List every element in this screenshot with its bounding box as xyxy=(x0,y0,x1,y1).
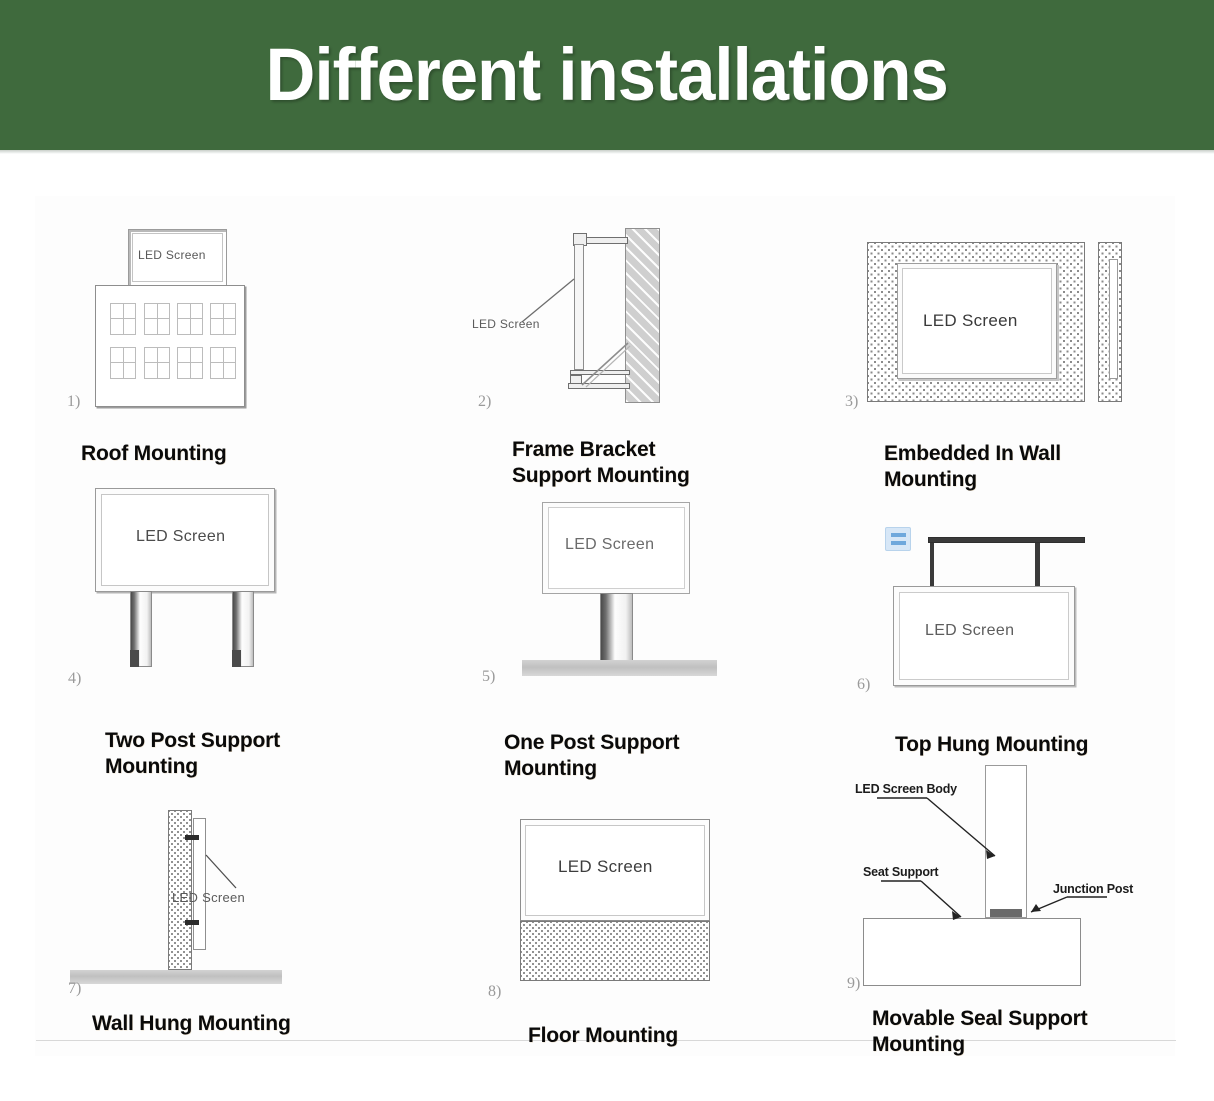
header-divider xyxy=(0,150,1214,154)
caption-top-hung-mounting: Top Hung Mounting xyxy=(895,732,1088,758)
cell-frame-bracket-support-mounting: LED Screen 2) Frame Bracket Support Moun… xyxy=(470,215,830,505)
window xyxy=(210,347,236,379)
caption-frame-bracket-support-mounting: Frame Bracket Support Mounting xyxy=(512,437,690,489)
window xyxy=(210,303,236,335)
embedded-led-screen-label: LED Screen xyxy=(923,311,1018,331)
diagram-index-9: 9) xyxy=(847,975,860,993)
frame-bracket-led-screen-label: LED Screen xyxy=(472,317,540,331)
caption-roof-mounting: Roof Mounting xyxy=(81,441,227,467)
movable-seal-support-diagram: LED Screen Body Seat Support Junction Po… xyxy=(845,760,1175,990)
roof-led-screen-label: LED Screen xyxy=(138,248,206,262)
caption-one-post-support-mounting: One Post Support Mounting xyxy=(504,730,679,782)
caption-two-post-support-mounting: Two Post Support Mounting xyxy=(105,728,280,780)
led-screen-leader-line xyxy=(470,215,700,410)
window xyxy=(177,303,203,335)
top-hung-led-screen-label: LED Screen xyxy=(925,622,1014,640)
wall-hung-diagram: LED Screen xyxy=(60,800,340,1000)
floor-mounting-diagram: LED Screen xyxy=(470,805,750,1005)
window xyxy=(177,347,203,379)
window xyxy=(144,347,170,379)
cell-movable-seal-support-mounting: LED Screen Body Seat Support Junction Po… xyxy=(845,760,1214,1060)
diagram-index-8: 8) xyxy=(488,983,501,1001)
cell-two-post-support-mounting: LED Screen 4) Two Post Support Mounting xyxy=(60,480,420,780)
post-footing-left xyxy=(130,650,139,667)
caption-floor-mounting: Floor Mounting xyxy=(528,1023,678,1049)
post-footing-right xyxy=(232,650,241,667)
diagram-index-2: 2) xyxy=(478,393,491,411)
ceiling-beam xyxy=(928,537,1085,543)
save-icon[interactable] xyxy=(885,527,911,551)
diagram-index-1: 1) xyxy=(67,393,80,411)
cell-roof-mounting: LED Screen xyxy=(60,215,420,495)
one-post-support-diagram: LED Screen xyxy=(470,490,730,685)
diagram-index-4: 4) xyxy=(68,670,81,688)
support-post-center xyxy=(600,593,633,663)
diagram-index-3: 3) xyxy=(845,393,858,411)
top-hung-diagram: LED Screen xyxy=(845,510,1115,700)
diagram-index-7: 7) xyxy=(68,980,81,998)
two-post-led-screen-label: LED Screen xyxy=(136,528,225,546)
caption-movable-seal-support-mounting: Movable Seal Support Mounting xyxy=(872,1006,1087,1058)
window xyxy=(110,347,136,379)
cell-one-post-support-mounting: LED Screen 5) One Post Support Mounting xyxy=(470,490,830,790)
cell-embedded-in-wall-mounting: LED Screen 3) Embedded In Wall Mounting xyxy=(845,215,1195,505)
frame-bracket-diagram: LED Screen xyxy=(470,215,700,410)
floor-led-screen-label: LED Screen xyxy=(558,857,653,877)
cell-wall-hung-mounting: LED Screen 7) Wall Hung Mounting xyxy=(60,800,420,1050)
ground-slab xyxy=(522,660,717,676)
window xyxy=(144,303,170,335)
header-banner: Different installations xyxy=(0,0,1214,150)
roof-mounting-diagram: LED Screen xyxy=(60,215,290,410)
annotation-leader-lines xyxy=(845,760,1175,990)
caption-embedded-in-wall-mounting: Embedded In Wall Mounting xyxy=(884,441,1061,493)
screen-side-section xyxy=(1109,259,1118,379)
cell-top-hung-mounting: LED Screen 6) Top Hung Mounting xyxy=(845,510,1195,800)
hanger-left xyxy=(930,543,934,587)
cell-floor-mounting: LED Screen 8) Floor Mounting xyxy=(470,805,830,1055)
two-post-support-diagram: LED Screen xyxy=(60,480,300,685)
page-title: Different installations xyxy=(266,38,948,112)
embedded-in-wall-diagram: LED Screen xyxy=(845,215,1145,410)
window xyxy=(110,303,136,335)
diagram-index-6: 6) xyxy=(857,676,870,694)
floor-plinth-base xyxy=(520,921,710,981)
hanger-right xyxy=(1035,543,1040,587)
diagram-index-5: 5) xyxy=(482,668,495,686)
caption-wall-hung-mounting: Wall Hung Mounting xyxy=(92,1011,291,1037)
one-post-led-screen-label: LED Screen xyxy=(565,536,654,554)
ground-slab xyxy=(70,970,282,984)
wall-hung-led-screen-label: LED Screen xyxy=(172,890,245,905)
